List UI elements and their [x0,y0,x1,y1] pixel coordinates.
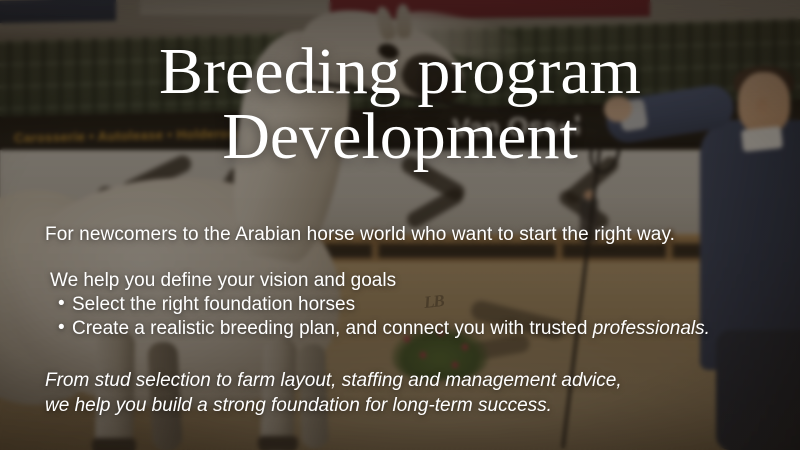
list-item: Select the right foundation horses [50,294,710,316]
body-block: We help you define your vision and goals… [50,270,710,340]
list-item: Create a realistic breeding plan, and co… [50,318,710,340]
body-bullet-list: Select the right foundation horses Creat… [50,294,710,340]
closing-line-1: From stud selection to farm layout, staf… [45,368,622,393]
lead-paragraph: For newcomers to the Arabian horse world… [45,224,675,246]
slide-content: Breeding program Development For newcome… [0,0,800,450]
slide-root: Carosserie • Autolease • Holderosserie •… [0,0,800,450]
closing-line-2: we help you build a strong foundation fo… [45,393,622,418]
closing-paragraph: From stud selection to farm layout, staf… [45,368,622,418]
bullet-text: Select the right foundation horses [72,294,355,315]
bullet-text: Create a realistic breeding plan, and co… [72,318,593,339]
slide-title: Breeding program Development [0,40,800,169]
bullet-text-emphasis: professionals. [593,318,710,339]
title-line-1: Breeding program [159,35,641,108]
title-line-2: Development [0,105,800,170]
body-intro: We help you define your vision and goals [50,270,710,292]
